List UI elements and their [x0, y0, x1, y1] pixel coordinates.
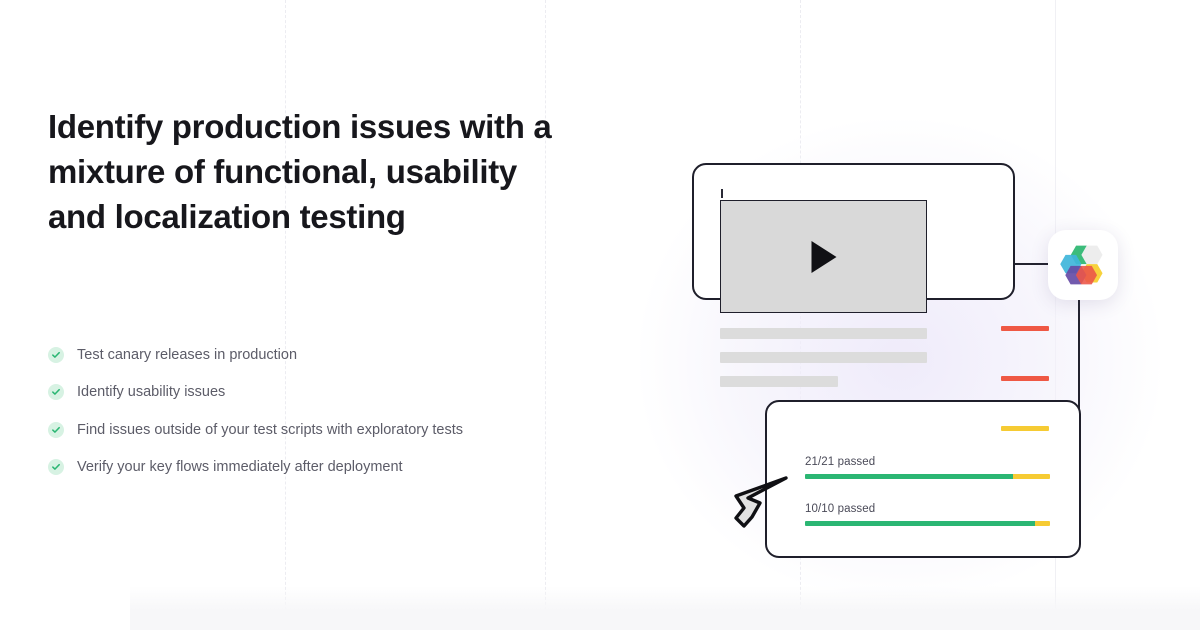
- skeleton-line: [720, 328, 927, 339]
- progress-pending-segment: [1035, 521, 1050, 526]
- progress-passed-segment: [805, 521, 1035, 526]
- list-item-label: Verify your key flows immediately after …: [77, 458, 403, 476]
- mouse-cursor-icon: [730, 472, 792, 538]
- product-illustration: 21/21 passed 10/10 passed: [680, 150, 1150, 580]
- test-progress-bar: [805, 474, 1050, 479]
- progress-pending-segment: [1013, 474, 1050, 479]
- list-item-label: Test canary releases in production: [77, 346, 297, 364]
- test-result-row: 21/21 passed: [805, 456, 1050, 479]
- grid-line-2: [545, 0, 547, 630]
- list-item: Verify your key flows immediately after …: [48, 449, 568, 487]
- grid-line-1: [285, 0, 287, 630]
- hero-content: Identify production issues with a mixtur…: [48, 104, 568, 239]
- status-tick-pending-1: [1001, 426, 1049, 431]
- list-item-label: Find issues outside of your test scripts…: [77, 421, 463, 439]
- test-result-row: 10/10 passed: [805, 503, 1050, 526]
- video-preview-card: [692, 163, 1015, 300]
- check-circle-icon: [48, 422, 64, 438]
- test-progress-bar: [805, 521, 1050, 526]
- app-logo-icon: [1060, 242, 1106, 288]
- check-circle-icon: [48, 459, 64, 475]
- text-caret-icon: [721, 189, 723, 198]
- status-tick-failed-1: [1001, 326, 1049, 331]
- feature-list: Test canary releases in production Ident…: [48, 336, 568, 486]
- page-root: Identify production issues with a mixtur…: [0, 0, 1200, 630]
- page-title: Identify production issues with a mixtur…: [48, 104, 568, 239]
- app-logo-badge[interactable]: [1048, 230, 1118, 300]
- list-item: Identify usability issues: [48, 374, 568, 412]
- list-item-label: Identify usability issues: [77, 383, 225, 401]
- skeleton-line: [720, 376, 838, 387]
- test-result-label: 10/10 passed: [805, 503, 1050, 515]
- check-circle-icon: [48, 347, 64, 363]
- list-item: Test canary releases in production: [48, 336, 568, 374]
- bottom-band: [130, 586, 1200, 630]
- skeleton-line: [720, 352, 927, 363]
- status-tick-failed-2: [1001, 376, 1049, 381]
- play-icon[interactable]: [811, 241, 836, 273]
- test-result-label: 21/21 passed: [805, 456, 1050, 468]
- video-thumbnail[interactable]: [720, 200, 927, 313]
- check-circle-icon: [48, 384, 64, 400]
- list-item: Find issues outside of your test scripts…: [48, 411, 568, 449]
- test-results-card: 21/21 passed 10/10 passed: [765, 400, 1081, 558]
- progress-passed-segment: [805, 474, 1013, 479]
